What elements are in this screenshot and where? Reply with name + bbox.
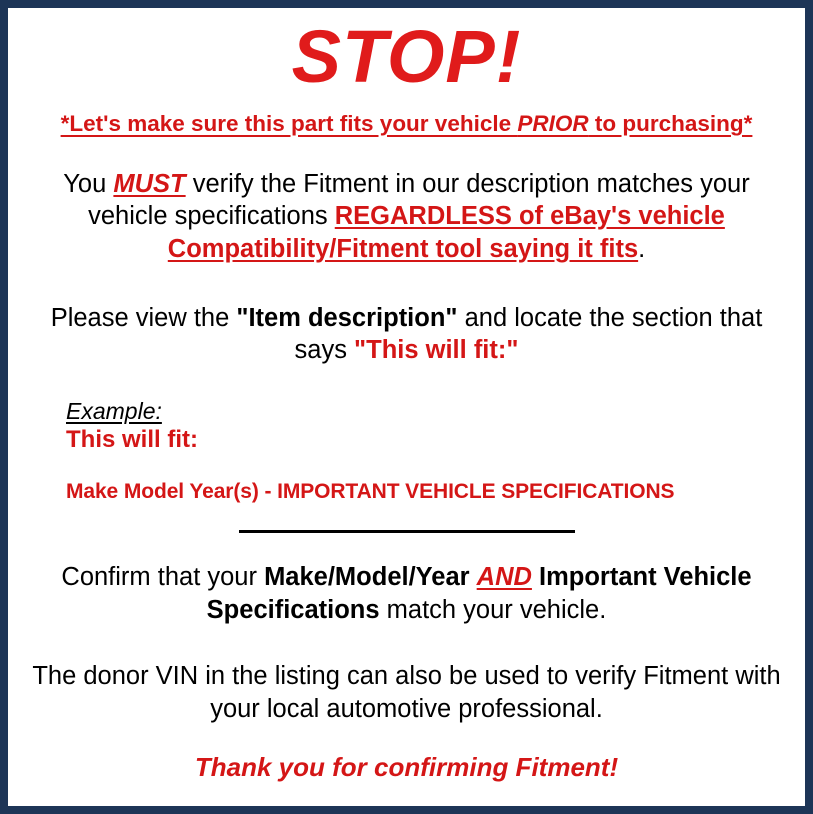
p1-part-1: You bbox=[63, 170, 113, 198]
p3-make-model-year-emphasis: Make/Model/Year bbox=[264, 563, 470, 591]
p2-part-1: Please view the bbox=[51, 304, 237, 332]
notice-content: STOP! *Let's make sure this part fits yo… bbox=[8, 8, 805, 806]
p2-this-will-fit-emphasis: "This will fit:" bbox=[354, 336, 518, 364]
example-label: Example: bbox=[66, 399, 162, 424]
p3-part-2: match your vehicle. bbox=[380, 596, 607, 624]
example-label-row: Example: bbox=[66, 399, 793, 424]
p3-part-1: Confirm that your bbox=[61, 563, 264, 591]
subtitle-before: *Let's make sure this part fits your veh… bbox=[61, 111, 518, 136]
stop-heading: STOP! bbox=[20, 18, 793, 96]
subtitle-after: to purchasing* bbox=[589, 111, 753, 136]
paragraph-confirm-match: Confirm that your Make/Model/Year AND Im… bbox=[20, 561, 793, 626]
example-specs-line: Make Model Year(s) - IMPORTANT VEHICLE S… bbox=[66, 479, 793, 504]
closing-thank-you: Thank you for confirming Fitment! bbox=[20, 752, 793, 783]
paragraph-item-description: Please view the "Item description" and l… bbox=[20, 302, 793, 367]
p1-part-3: . bbox=[638, 235, 645, 263]
p3-space-1 bbox=[470, 563, 477, 591]
subtitle-line: *Let's make sure this part fits your veh… bbox=[20, 110, 793, 138]
divider-wrapper bbox=[20, 530, 793, 533]
p2-item-description-emphasis: "Item description" bbox=[236, 304, 457, 332]
paragraph-donor-vin: The donor VIN in the listing can also be… bbox=[20, 660, 793, 725]
p3-and-emphasis: AND bbox=[477, 563, 532, 591]
section-divider bbox=[239, 530, 575, 533]
paragraph-verify-fitment: You MUST verify the Fitment in our descr… bbox=[20, 168, 793, 266]
fitment-notice-card: STOP! *Let's make sure this part fits yo… bbox=[0, 0, 813, 814]
example-block: Example: This will fit: Make Model Year(… bbox=[20, 399, 793, 504]
example-fit-heading: This will fit: bbox=[66, 426, 793, 455]
p3-space-2 bbox=[532, 563, 539, 591]
p1-must-emphasis: MUST bbox=[113, 170, 185, 198]
subtitle-prior-emphasis: PRIOR bbox=[517, 111, 588, 136]
